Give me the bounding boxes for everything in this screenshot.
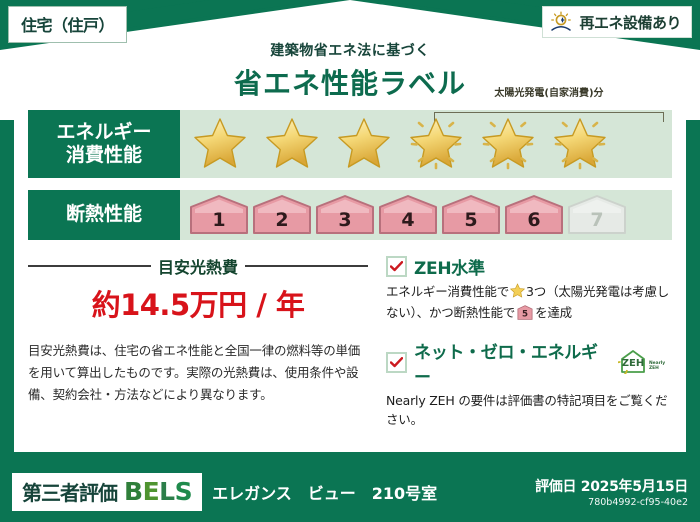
sun-icon bbox=[549, 11, 573, 33]
check-icon bbox=[390, 357, 403, 368]
insulation-grade-list: 1234567 bbox=[180, 194, 628, 236]
zeh-desc-part1: エネルギー消費性能で bbox=[386, 284, 509, 299]
insulation-grade-1: 1 bbox=[188, 194, 250, 236]
insulation-grade-2: 2 bbox=[251, 194, 313, 236]
star-5 bbox=[474, 114, 544, 174]
zeh-house-logo: ZEH Nearly ZEH bbox=[618, 348, 672, 378]
renewable-badge-label: 再エネ設備あり bbox=[579, 12, 681, 33]
rule-left bbox=[28, 265, 151, 267]
star-icon bbox=[474, 114, 542, 172]
utility-cost-value: 約14.5万円 / 年 bbox=[28, 282, 368, 324]
lower-content: 目安光熱費 約14.5万円 / 年 目安光熱費は、住宅の省エネ性能と全国一律の燃… bbox=[14, 254, 686, 429]
property-name: エレガンス ビュー 210号室 bbox=[212, 480, 437, 504]
house-type-badge: 住宅（住戸） bbox=[8, 6, 127, 43]
energy-stars-panel: 太陽光発電(自家消費)分 bbox=[180, 110, 672, 178]
svg-text:5: 5 bbox=[464, 209, 477, 231]
star-1 bbox=[186, 114, 256, 174]
svg-text:7: 7 bbox=[590, 209, 603, 231]
house-type-label: 住宅（住戸） bbox=[21, 16, 114, 35]
insulation-grade-5: 5 bbox=[440, 194, 502, 236]
energy-performance-row: エネルギー 消費性能 太陽光発電(自家消費)分 bbox=[28, 110, 672, 178]
grade-house-icon: 1 bbox=[188, 194, 250, 236]
svg-text:5: 5 bbox=[522, 310, 528, 320]
star-icon bbox=[186, 114, 254, 172]
star-4 bbox=[402, 114, 472, 174]
bels-badge: 第三者評価 BELS bbox=[12, 473, 202, 511]
energy-performance-label: 住宅（住戸） 再エネ設備あり 建築物省エネ法に基づく 省エネ性能ラベル エネルギ… bbox=[0, 0, 700, 522]
utility-cost-heading-label: 目安光熱費 bbox=[158, 254, 238, 278]
utility-cost-heading: 目安光熱費 bbox=[28, 254, 368, 278]
insulation-performance-label-box: 断熱性能 bbox=[28, 190, 180, 240]
svg-text:ZEH: ZEH bbox=[649, 365, 659, 371]
star-3 bbox=[330, 114, 400, 174]
star-6 bbox=[546, 114, 616, 174]
zeh-desc-part3: を達成 bbox=[535, 305, 572, 320]
insulation-grade-7: 7 bbox=[566, 194, 628, 236]
star-icon bbox=[402, 114, 470, 172]
grade-house-icon: 7 bbox=[566, 194, 628, 236]
star-rating bbox=[180, 114, 616, 174]
zeh-standard-title: ZEH水準 bbox=[414, 254, 485, 279]
svg-text:3: 3 bbox=[338, 209, 351, 231]
insulation-grades-panel: 1234567 bbox=[180, 190, 672, 240]
utility-cost-note: 目安光熱費は、住宅の省エネ性能と全国一律の燃料等の単価を用いて算出したものです。… bbox=[28, 340, 368, 406]
grade-house-icon: 4 bbox=[377, 194, 439, 236]
net-zero-energy-block: ネット・ゼロ・エネルギー ZEH Nearly ZEH Nearly ZEH の… bbox=[386, 338, 672, 430]
star-icon bbox=[546, 114, 614, 172]
grade-house-icon: 3 bbox=[314, 194, 376, 236]
net-zero-checkbox[interactable] bbox=[386, 352, 407, 373]
net-zero-title: ネット・ゼロ・エネルギー bbox=[414, 338, 608, 388]
zeh-standard-title-row: ZEH水準 bbox=[386, 254, 672, 279]
evaluation-date-label: 評価日 bbox=[535, 479, 576, 495]
insulation-grade-4: 4 bbox=[377, 194, 439, 236]
title-main: 省エネ性能ラベル bbox=[0, 62, 700, 102]
bels-logo: BELS bbox=[124, 477, 192, 506]
evaluation-info: 評価日 2025年5月15日 780b4992-cf95-40e2 bbox=[535, 476, 688, 508]
star-icon bbox=[258, 114, 326, 172]
energy-performance-label-box: エネルギー 消費性能 bbox=[28, 110, 180, 178]
svg-text:ZEH: ZEH bbox=[622, 358, 644, 369]
net-zero-title-row: ネット・ゼロ・エネルギー ZEH Nearly ZEH bbox=[386, 338, 672, 388]
footer-bar: 第三者評価 BELS エレガンス ビュー 210号室 評価日 2025年5月15… bbox=[0, 462, 700, 522]
evaluation-date: 評価日 2025年5月15日 bbox=[535, 476, 688, 496]
rule-right bbox=[245, 265, 368, 267]
evaluation-id: 780b4992-cf95-40e2 bbox=[535, 497, 688, 508]
title-subtitle: 建築物省エネ法に基づく bbox=[0, 40, 700, 60]
star-icon bbox=[330, 114, 398, 172]
energy-label-line1: エネルギー bbox=[56, 121, 151, 144]
svg-text:6: 6 bbox=[527, 209, 540, 231]
insulation-grade-6: 6 bbox=[503, 194, 565, 236]
zeh-standard-checkbox[interactable] bbox=[386, 256, 407, 277]
zeh-standard-block: ZEH水準 エネルギー消費性能で3つ（太陽光発電は考慮しない）、かつ断熱性能で5… bbox=[386, 254, 672, 326]
insulation-grade-inline: 5 bbox=[517, 305, 533, 325]
check-icon bbox=[390, 261, 403, 272]
net-zero-description: Nearly ZEH の要件は評価書の特記項目をご覧ください。 bbox=[386, 391, 672, 430]
zeh-standard-description: エネルギー消費性能で3つ（太陽光発電は考慮しない）、かつ断熱性能で5を達成 bbox=[386, 282, 672, 326]
insulation-performance-row: 断熱性能 1234567 bbox=[28, 190, 672, 240]
svg-text:2: 2 bbox=[275, 209, 288, 231]
label-card: エネルギー 消費性能 太陽光発電(自家消費)分 断熱性能 1234567 bbox=[14, 100, 686, 452]
star-2 bbox=[258, 114, 328, 174]
svg-text:4: 4 bbox=[401, 209, 414, 231]
zeh-section: ZEH水準 エネルギー消費性能で3つ（太陽光発電は考慮しない）、かつ断熱性能で5… bbox=[376, 254, 672, 429]
renewable-equipment-badge: 再エネ設備あり bbox=[542, 6, 692, 38]
star-icon bbox=[510, 283, 525, 303]
energy-label-line2: 消費性能 bbox=[66, 144, 142, 167]
utility-cost-section: 目安光熱費 約14.5万円 / 年 目安光熱費は、住宅の省エネ性能と全国一律の燃… bbox=[28, 254, 376, 429]
insulation-label: 断熱性能 bbox=[66, 203, 142, 226]
third-party-label: 第三者評価 bbox=[22, 477, 117, 506]
grade-house-icon: 6 bbox=[503, 194, 565, 236]
insulation-grade-3: 3 bbox=[314, 194, 376, 236]
grade-house-icon: 2 bbox=[251, 194, 313, 236]
title-block: 建築物省エネ法に基づく 省エネ性能ラベル bbox=[0, 40, 700, 102]
svg-text:1: 1 bbox=[212, 209, 225, 231]
grade-house-icon: 5 bbox=[440, 194, 502, 236]
evaluation-date-value: 2025年5月15日 bbox=[581, 479, 688, 495]
